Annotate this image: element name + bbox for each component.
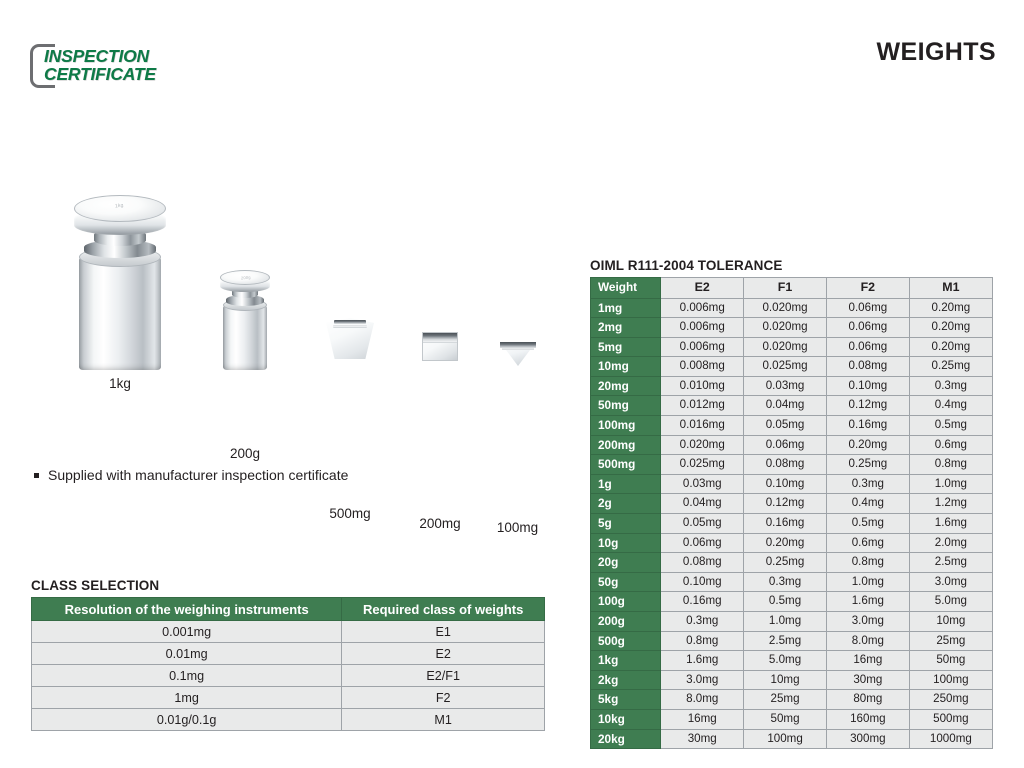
cell-resolution: 0.01g/0.1g <box>32 709 342 731</box>
cell-f2: 160mg <box>826 709 909 729</box>
cell-f1: 100mg <box>744 729 827 749</box>
tolerance-table-body: 1mg0.006mg0.020mg0.06mg0.20mg2mg0.006mg0… <box>591 298 993 749</box>
cell-weight: 1g <box>591 474 661 494</box>
logo-text: INSPECTION CERTIFICATE <box>44 48 156 84</box>
cell-e2: 0.006mg <box>661 337 744 357</box>
cell-f2: 0.06mg <box>826 298 909 318</box>
cell-f2: 0.20mg <box>826 435 909 455</box>
weight-stamp-text: 200g <box>241 275 251 281</box>
cell-f2: 0.5mg <box>826 514 909 534</box>
cell-e2: 30mg <box>661 729 744 749</box>
cell-resolution: 0.01mg <box>32 643 342 665</box>
cell-f2: 16mg <box>826 651 909 671</box>
cell-e2: 16mg <box>661 709 744 729</box>
cell-f2: 80mg <box>826 690 909 710</box>
product-weight-200g: 200g 200g <box>190 250 300 370</box>
cylinder-cap-top: 1kg <box>74 195 166 222</box>
cylinder-body <box>223 305 267 370</box>
cell-weight: 20g <box>591 553 661 573</box>
table-row: 2kg3.0mg10mg30mg100mg <box>591 670 993 690</box>
cell-weight: 200mg <box>591 435 661 455</box>
cell-f2: 1.6mg <box>826 592 909 612</box>
cell-f1: 5.0mg <box>744 651 827 671</box>
cell-f1: 0.5mg <box>744 592 827 612</box>
cell-m1: 1.2mg <box>909 494 992 514</box>
cell-class: E1 <box>342 621 545 643</box>
class-selection-table: Resolution of the weighing instruments R… <box>31 597 545 731</box>
table-row: 5g0.05mg0.16mg0.5mg1.6mg <box>591 514 993 534</box>
cell-e2: 0.04mg <box>661 494 744 514</box>
cell-f1: 0.04mg <box>744 396 827 416</box>
cell-f2: 0.08mg <box>826 357 909 377</box>
table-row: 100g0.16mg0.5mg1.6mg5.0mg <box>591 592 993 612</box>
cell-weight: 2kg <box>591 670 661 690</box>
cell-f1: 0.25mg <box>744 553 827 573</box>
cell-e2: 0.06mg <box>661 533 744 553</box>
cylinder-body <box>79 257 161 370</box>
cell-m1: 2.5mg <box>909 553 992 573</box>
cell-e2: 0.008mg <box>661 357 744 377</box>
cell-m1: 2.0mg <box>909 533 992 553</box>
cell-e2: 0.012mg <box>661 396 744 416</box>
cell-weight: 10g <box>591 533 661 553</box>
cell-weight: 2g <box>591 494 661 514</box>
cell-m1: 500mg <box>909 709 992 729</box>
cell-f1: 25mg <box>744 690 827 710</box>
cell-weight: 10kg <box>591 709 661 729</box>
cell-e2: 1.6mg <box>661 651 744 671</box>
cell-f2: 1.0mg <box>826 572 909 592</box>
product-label-200g: 200g <box>190 446 300 461</box>
cylinder-cap-top: 200g <box>220 270 270 285</box>
cell-m1: 3.0mg <box>909 572 992 592</box>
table-row: 1mg F2 <box>32 687 545 709</box>
cell-f1: 0.020mg <box>744 298 827 318</box>
cell-f1: 0.20mg <box>744 533 827 553</box>
table-row: 200mg0.020mg0.06mg0.20mg0.6mg <box>591 435 993 455</box>
cell-f2: 0.06mg <box>826 318 909 338</box>
cell-f2: 300mg <box>826 729 909 749</box>
cell-e2: 0.8mg <box>661 631 744 651</box>
class-selection-section: CLASS SELECTION Resolution of the weighi… <box>31 578 545 731</box>
cell-m1: 0.25mg <box>909 357 992 377</box>
rectangle-sheet-edge-highlight <box>423 340 457 343</box>
cell-weight: 10mg <box>591 357 661 377</box>
table-row: 0.01mg E2 <box>32 643 545 665</box>
table-row: 200g0.3mg1.0mg3.0mg10mg <box>591 612 993 632</box>
cell-class: M1 <box>342 709 545 731</box>
table-header-row: Resolution of the weighing instruments R… <box>32 598 545 621</box>
cell-f1: 1.0mg <box>744 612 827 632</box>
table-row: 10kg16mg50mg160mg500mg <box>591 709 993 729</box>
cell-m1: 0.6mg <box>909 435 992 455</box>
table-row: 1mg0.006mg0.020mg0.06mg0.20mg <box>591 298 993 318</box>
cell-resolution: 1mg <box>32 687 342 709</box>
feature-list: Supplied with manufacturer inspection ce… <box>32 466 512 484</box>
feature-item: Supplied with manufacturer inspection ce… <box>32 466 512 484</box>
table-row: 2mg0.006mg0.020mg0.06mg0.20mg <box>591 318 993 338</box>
cell-f2: 3.0mg <box>826 612 909 632</box>
cell-m1: 1000mg <box>909 729 992 749</box>
cell-f1: 2.5mg <box>744 631 827 651</box>
weight-stamp-text: 1kg <box>115 203 124 210</box>
cell-m1: 250mg <box>909 690 992 710</box>
cell-e2: 0.16mg <box>661 592 744 612</box>
cell-weight: 5kg <box>591 690 661 710</box>
cell-m1: 0.4mg <box>909 396 992 416</box>
cell-weight: 2mg <box>591 318 661 338</box>
inspection-certificate-logo: INSPECTION CERTIFICATE <box>30 41 180 91</box>
logo-line-2: CERTIFICATE <box>44 66 156 84</box>
cell-weight: 1kg <box>591 651 661 671</box>
cell-class: E2/F1 <box>342 665 545 687</box>
cell-f2: 0.6mg <box>826 533 909 553</box>
cell-f2: 0.16mg <box>826 416 909 436</box>
pentagon-sheet-edge-highlight <box>333 325 367 328</box>
table-row: 0.01g/0.1g M1 <box>32 709 545 731</box>
table-row: 0.001mg E1 <box>32 621 545 643</box>
cell-f2: 0.10mg <box>826 376 909 396</box>
cell-resolution: 0.001mg <box>32 621 342 643</box>
cell-f2: 0.12mg <box>826 396 909 416</box>
cell-e2: 0.3mg <box>661 612 744 632</box>
cell-m1: 25mg <box>909 631 992 651</box>
cell-weight: 100mg <box>591 416 661 436</box>
cell-class: E2 <box>342 643 545 665</box>
tolerance-table: Weight E2 F1 F2 M1 1mg0.006mg0.020mg0.06… <box>590 277 993 749</box>
cell-f2: 8.0mg <box>826 631 909 651</box>
cell-f1: 0.12mg <box>744 494 827 514</box>
cell-f1: 0.025mg <box>744 357 827 377</box>
cell-e2: 0.05mg <box>661 514 744 534</box>
cell-m1: 0.20mg <box>909 337 992 357</box>
cell-f1: 0.10mg <box>744 474 827 494</box>
tol-col-header-f1: F1 <box>744 278 827 299</box>
cell-class: F2 <box>342 687 545 709</box>
cell-weight: 50mg <box>591 396 661 416</box>
cell-weight: 500g <box>591 631 661 651</box>
cell-e2: 0.016mg <box>661 416 744 436</box>
table-row: 500mg0.025mg0.08mg0.25mg0.8mg <box>591 455 993 475</box>
cell-weight: 500mg <box>591 455 661 475</box>
cell-e2: 0.006mg <box>661 318 744 338</box>
cell-e2: 0.08mg <box>661 553 744 573</box>
table-row: 50g0.10mg0.3mg1.0mg3.0mg <box>591 572 993 592</box>
cell-f1: 0.3mg <box>744 572 827 592</box>
tol-col-header-f2: F2 <box>826 278 909 299</box>
page-title: WEIGHTS <box>877 38 996 67</box>
table-row: 100mg0.016mg0.05mg0.16mg0.5mg <box>591 416 993 436</box>
cell-f2: 0.25mg <box>826 455 909 475</box>
cell-e2: 0.010mg <box>661 376 744 396</box>
table-row: 2g0.04mg0.12mg0.4mg1.2mg <box>591 494 993 514</box>
product-label-100mg: 100mg <box>465 520 570 535</box>
product-weight-100mg: 100mg <box>465 324 570 370</box>
table-row: 20kg30mg100mg300mg1000mg <box>591 729 993 749</box>
table-row: 0.1mg E2/F1 <box>32 665 545 687</box>
cell-weight: 20kg <box>591 729 661 749</box>
cell-f1: 0.020mg <box>744 318 827 338</box>
table-row: 1g0.03mg0.10mg0.3mg1.0mg <box>591 474 993 494</box>
cell-m1: 0.20mg <box>909 298 992 318</box>
table-row: 50mg0.012mg0.04mg0.12mg0.4mg <box>591 396 993 416</box>
table-row: 1kg1.6mg5.0mg16mg50mg <box>591 651 993 671</box>
table-row: 5mg0.006mg0.020mg0.06mg0.20mg <box>591 337 993 357</box>
cell-f2: 0.4mg <box>826 494 909 514</box>
product-label-1kg: 1kg <box>70 376 170 391</box>
tolerance-section: OIML R111-2004 TOLERANCE Weight E2 F1 F2… <box>590 258 993 749</box>
tol-col-header-e2: E2 <box>661 278 744 299</box>
cell-m1: 100mg <box>909 670 992 690</box>
cell-m1: 50mg <box>909 651 992 671</box>
tol-col-header-weight: Weight <box>591 278 661 299</box>
cell-e2: 0.006mg <box>661 298 744 318</box>
table-row: 20g0.08mg0.25mg0.8mg2.5mg <box>591 553 993 573</box>
table-row: 500g0.8mg2.5mg8.0mg25mg <box>591 631 993 651</box>
product-image-row: 1kg 1kg 200g 200g 500mg <box>60 140 560 370</box>
cell-weight: 5mg <box>591 337 661 357</box>
class-col-header-required: Required class of weights <box>342 598 545 621</box>
cell-m1: 1.6mg <box>909 514 992 534</box>
triangle-sheet-edge-highlight <box>502 348 534 350</box>
table-row: 5kg8.0mg25mg80mg250mg <box>591 690 993 710</box>
cell-f2: 0.3mg <box>826 474 909 494</box>
cell-f2: 0.06mg <box>826 337 909 357</box>
cell-m1: 10mg <box>909 612 992 632</box>
cell-resolution: 0.1mg <box>32 665 342 687</box>
cell-weight: 5g <box>591 514 661 534</box>
cell-m1: 0.20mg <box>909 318 992 338</box>
cell-e2: 8.0mg <box>661 690 744 710</box>
cell-e2: 0.020mg <box>661 435 744 455</box>
pentagon-sheet-edge <box>334 320 366 324</box>
cell-f1: 10mg <box>744 670 827 690</box>
cell-f1: 0.16mg <box>744 514 827 534</box>
cell-f2: 0.8mg <box>826 553 909 573</box>
cell-f1: 0.05mg <box>744 416 827 436</box>
cell-e2: 3.0mg <box>661 670 744 690</box>
product-sheet-page: INSPECTION CERTIFICATE WEIGHTS 1kg 1kg <box>0 0 1024 768</box>
tol-col-header-m1: M1 <box>909 278 992 299</box>
table-row: 10g0.06mg0.20mg0.6mg2.0mg <box>591 533 993 553</box>
cell-m1: 5.0mg <box>909 592 992 612</box>
cell-e2: 0.03mg <box>661 474 744 494</box>
cell-f1: 0.020mg <box>744 337 827 357</box>
cell-m1: 0.3mg <box>909 376 992 396</box>
cell-f1: 0.03mg <box>744 376 827 396</box>
cell-weight: 1mg <box>591 298 661 318</box>
cell-weight: 20mg <box>591 376 661 396</box>
cell-weight: 200g <box>591 612 661 632</box>
rectangle-sheet-edge <box>423 333 457 340</box>
cell-m1: 0.8mg <box>909 455 992 475</box>
cell-f1: 0.08mg <box>744 455 827 475</box>
cell-m1: 0.5mg <box>909 416 992 436</box>
product-weight-1kg: 1kg 1kg <box>70 180 170 370</box>
cell-weight: 100g <box>591 592 661 612</box>
class-selection-heading: CLASS SELECTION <box>31 578 545 593</box>
cell-m1: 1.0mg <box>909 474 992 494</box>
table-row: 10mg0.008mg0.025mg0.08mg0.25mg <box>591 357 993 377</box>
class-col-header-resolution: Resolution of the weighing instruments <box>32 598 342 621</box>
table-header-row: Weight E2 F1 F2 M1 <box>591 278 993 299</box>
cell-f2: 30mg <box>826 670 909 690</box>
cell-f1: 50mg <box>744 709 827 729</box>
table-row: 20mg0.010mg0.03mg0.10mg0.3mg <box>591 376 993 396</box>
cell-weight: 50g <box>591 572 661 592</box>
tolerance-heading: OIML R111-2004 TOLERANCE <box>590 258 993 273</box>
cell-f1: 0.06mg <box>744 435 827 455</box>
cell-e2: 0.10mg <box>661 572 744 592</box>
cell-e2: 0.025mg <box>661 455 744 475</box>
